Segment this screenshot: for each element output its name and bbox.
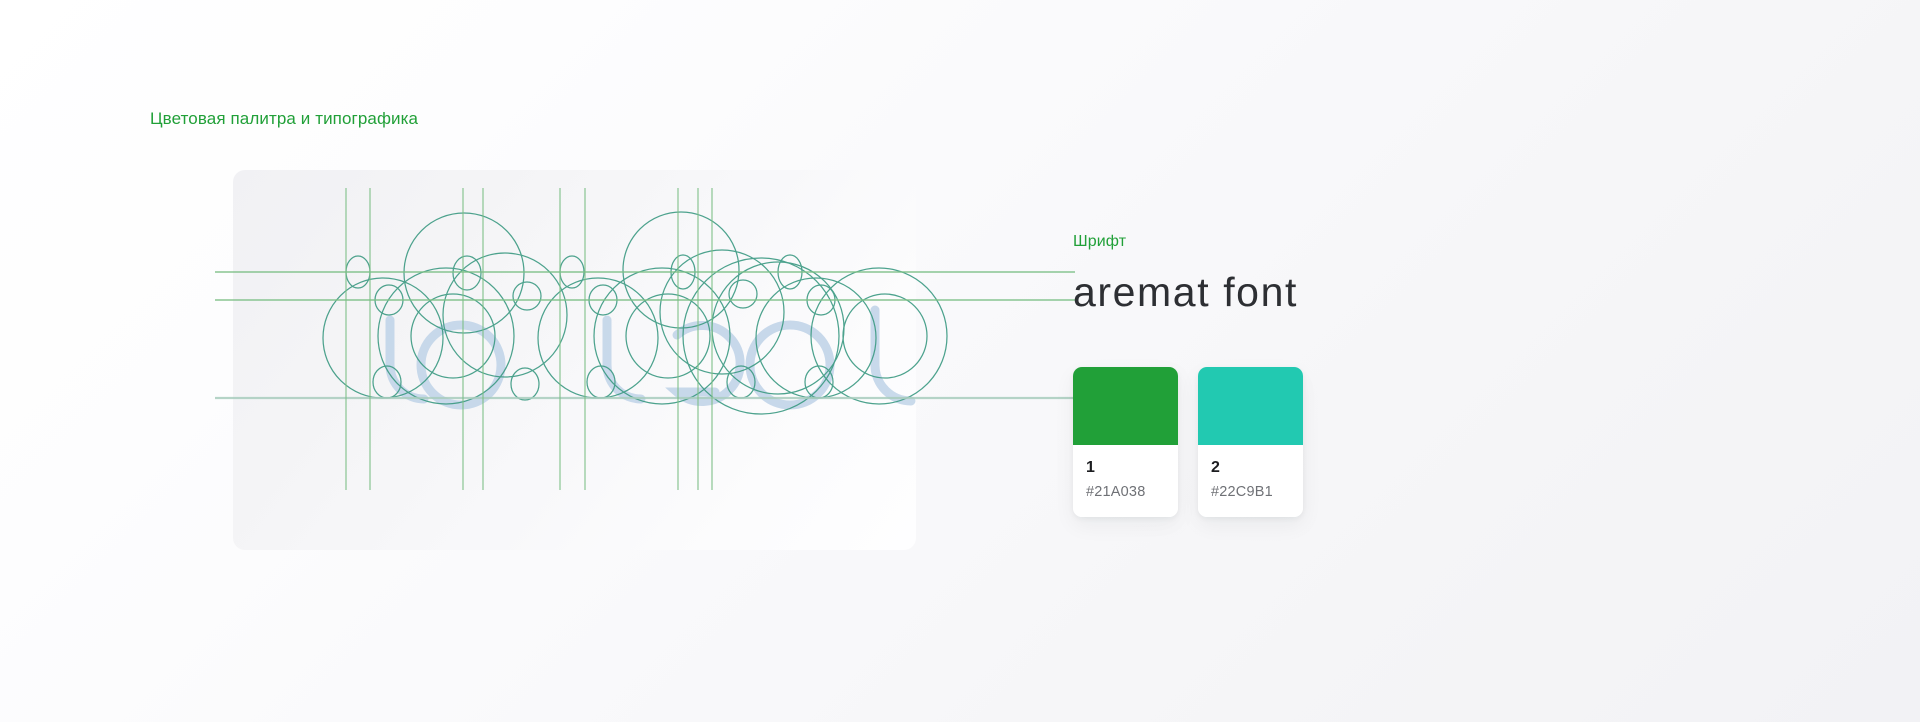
color-swatch-index: 2 xyxy=(1211,458,1290,478)
color-swatch-index: 1 xyxy=(1086,458,1165,478)
construction-horizontal-guides xyxy=(215,272,1075,300)
typography-label: Шрифт xyxy=(1073,232,1298,252)
ghost-letterforms xyxy=(390,310,911,405)
construction-circles xyxy=(323,212,947,414)
page-title: Цветовая палитра и типографика xyxy=(150,108,418,130)
font-sample-text: aremat font xyxy=(1073,268,1298,316)
color-swatch-meta: 2 #22C9B1 xyxy=(1198,445,1303,517)
color-swatch-hex: #21A038 xyxy=(1086,483,1165,501)
color-swatch-chip xyxy=(1073,367,1178,445)
color-swatch-chip xyxy=(1198,367,1303,445)
typography-block: Шрифт aremat font xyxy=(1073,232,1298,316)
color-swatch-hex: #22C9B1 xyxy=(1211,483,1290,501)
color-swatch-card[interactable]: 1 #21A038 xyxy=(1073,367,1178,517)
construction-vertical-guides xyxy=(346,188,712,490)
color-palette: 1 #21A038 2 #22C9B1 xyxy=(1073,367,1303,517)
color-swatch-meta: 1 #21A038 xyxy=(1073,445,1178,517)
logo-construction-diagram xyxy=(215,160,1095,560)
color-swatch-card[interactable]: 2 #22C9B1 xyxy=(1198,367,1303,517)
logo-construction-panel xyxy=(233,170,916,550)
